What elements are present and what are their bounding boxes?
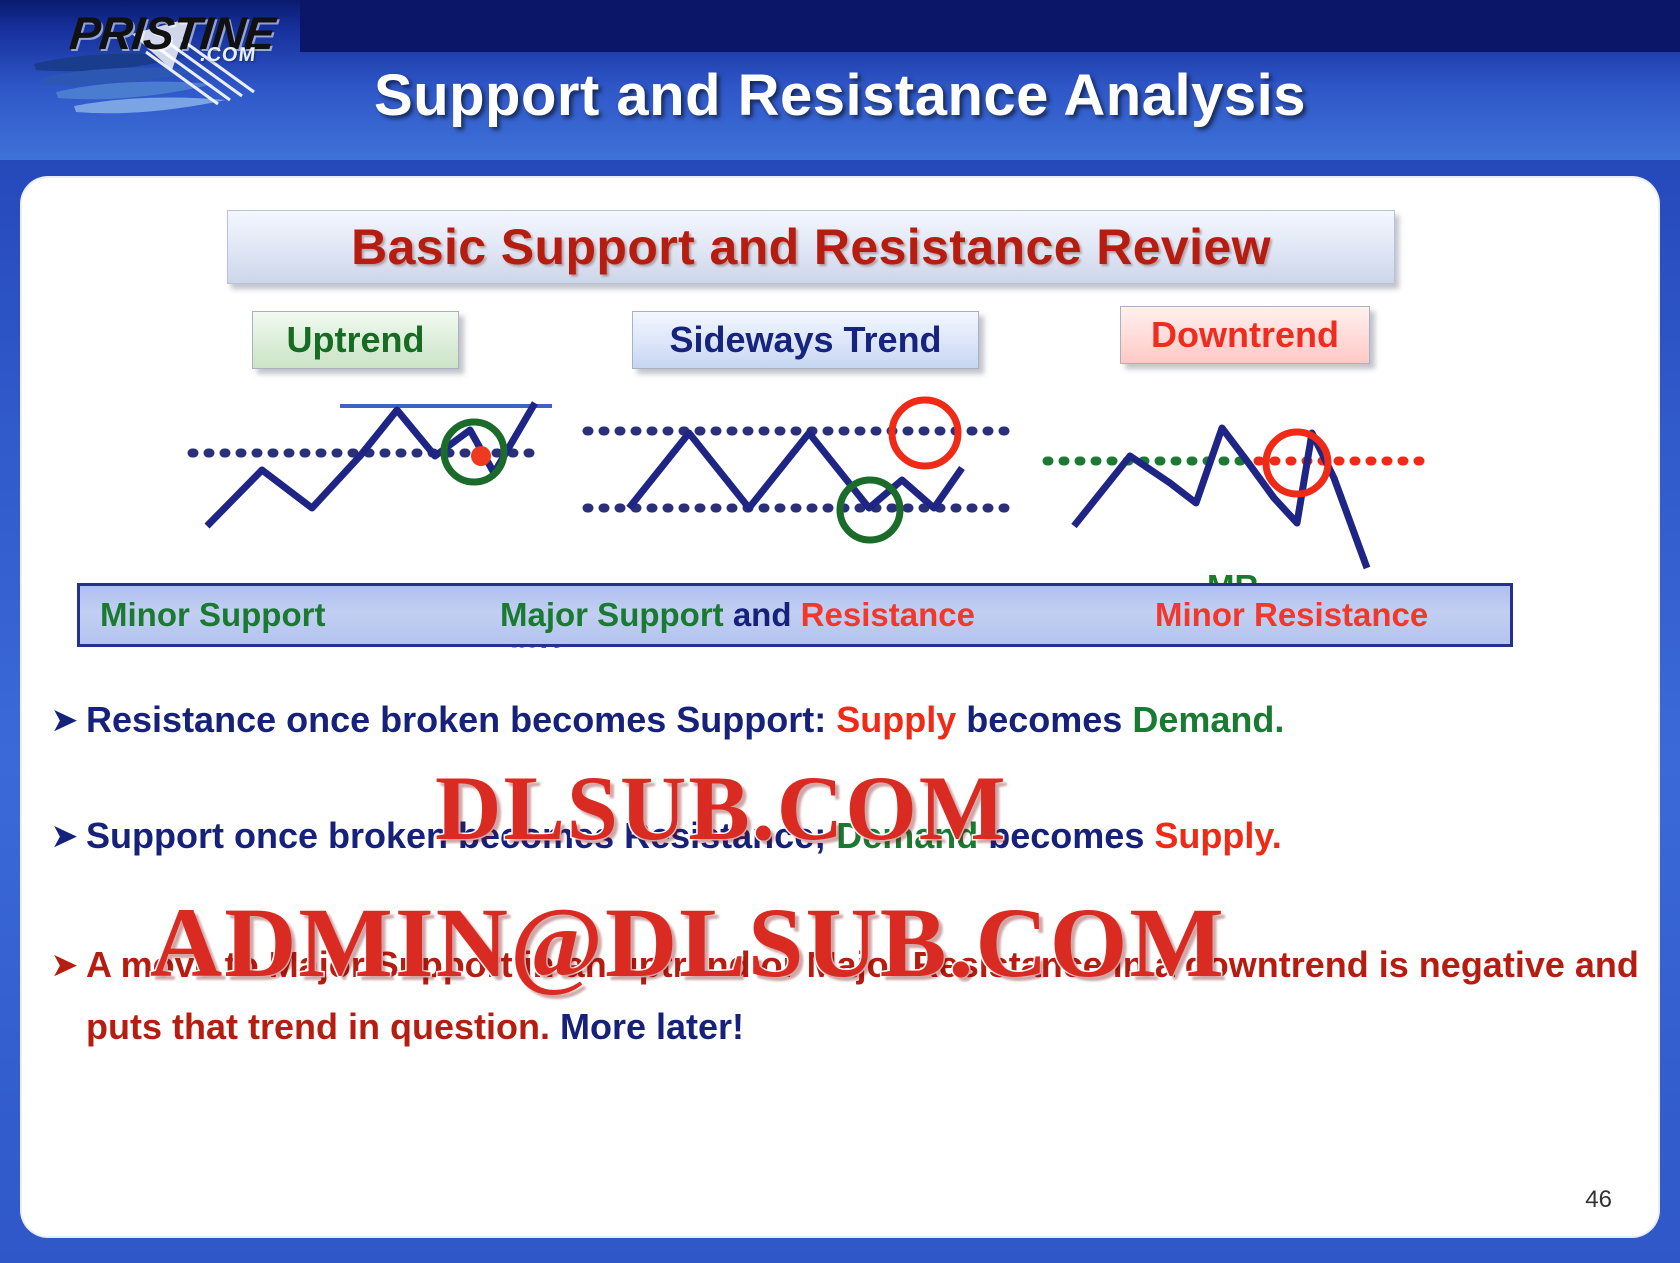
chevron-right-icon: ➤ [52,815,77,859]
bullet3-part1: A move to Major Support in an uptrend or… [86,944,1639,1047]
bullet-list: ➤ Resistance once broken becomes Support… [44,698,1644,1104]
bullet-item-3: ➤ A move to Major Support in an uptrend … [44,934,1644,1058]
sideways-price-line [629,433,962,508]
bullet1-demand: Demand. [1132,699,1284,740]
header-dark-band [300,0,1680,52]
slide-header: PRISTINE .COM Support and Resistance Ana… [0,0,1680,160]
bullet1-supply: Supply [836,699,956,740]
page-number: 46 [1585,1186,1612,1214]
legend-major-support: Major Support [500,596,724,633]
trend-diagrams: MS mS MR mR [22,178,1658,648]
slide: PRISTINE .COM Support and Resistance Ana… [0,0,1680,1263]
bullet-item-2: ➤ Support once broken becomes Resistance… [44,814,1644,858]
bullet2-part1: Support once broken becomes Resistance; [86,815,826,856]
bullet-item-1: ➤ Resistance once broken becomes Support… [44,698,1644,742]
legend-major-support-and-resistance: Major Support and Resistance [500,596,975,634]
bullet1-part2: becomes [966,699,1122,740]
bullet3-more-later: More later! [560,1006,744,1047]
legend-and: and [733,596,792,633]
sideways-diagram [587,400,1017,540]
content-panel: Basic Support and Resistance Review Uptr… [22,178,1658,1236]
bullet1-part1: Resistance once broken becomes Support: [86,699,826,740]
chevron-right-icon: ➤ [52,699,77,743]
uptrend-diagram [192,403,552,526]
bullet2-supply: Supply. [1154,815,1281,856]
legend-resistance: Resistance [801,596,975,633]
bullet2-part2: becomes [988,815,1144,856]
uptrend-price-dot [471,446,491,466]
legend-bar: Minor Support Major Support and Resistan… [77,583,1513,647]
chevron-right-icon: ➤ [52,935,77,997]
legend-minor-resistance: Minor Resistance [1155,596,1428,634]
bullet2-demand: Demand [836,815,978,856]
downtrend-diagram [1047,428,1420,568]
legend-minor-support: Minor Support [100,596,325,634]
page-title: Support and Resistance Analysis [0,62,1680,129]
